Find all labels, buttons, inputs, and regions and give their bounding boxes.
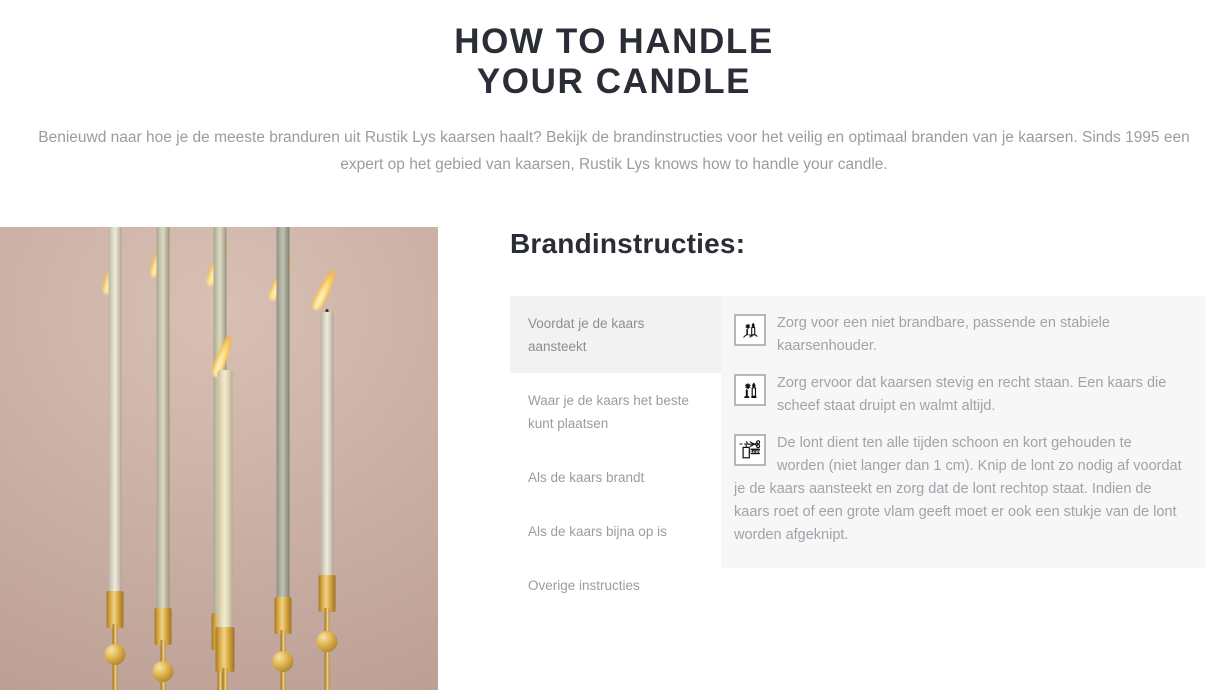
candle-wax	[277, 227, 290, 602]
tab-voordat-je-de-kaars-aansteekt[interactable]: Voordat je de kaars aansteekt	[510, 296, 721, 373]
candle-collar	[107, 591, 124, 628]
candle-4	[195, 270, 255, 690]
instructions-content: Zorg voor een niet brandbare, passende e…	[721, 296, 1205, 568]
tab-als-de-kaars-bijna-op-is[interactable]: Als de kaars bijna op is	[510, 504, 721, 558]
upright-candle-icon	[734, 374, 766, 406]
candle-wax	[157, 227, 170, 612]
instruction-text: De lont dient ten alle tijden schoon en …	[734, 432, 1183, 547]
candle-collar	[216, 627, 235, 672]
candle-photo	[0, 227, 438, 690]
candle-2	[133, 235, 193, 690]
tab-als-de-kaars-brandt[interactable]: Als de kaars brandt	[510, 450, 721, 504]
hero-section: HOW TO HANDLE YOUR CANDLE Benieuwd naar …	[0, 0, 1228, 178]
instruction-text: Zorg voor een niet brandbare, passende e…	[734, 312, 1183, 358]
content-row: Brandinstructies: Voordat je de kaars aa…	[0, 227, 1228, 690]
candle-collar	[275, 597, 292, 634]
candle-wax	[321, 312, 334, 580]
tab-overige-instructies[interactable]: Overige instructies	[510, 558, 721, 612]
candle-holder-icon	[734, 314, 766, 346]
tab-waar-je-de-kaars-het-beste-kunt-plaatsen[interactable]: Waar je de kaars het beste kunt plaatsen	[510, 373, 721, 450]
page-root: HOW TO HANDLE YOUR CANDLE Benieuwd naar …	[0, 0, 1228, 690]
instruction-item: Zorg voor een niet brandbare, passende e…	[734, 312, 1183, 358]
candle-wax	[218, 370, 233, 632]
instruction-tab-list: Voordat je de kaars aansteekt Waar je de…	[510, 296, 721, 568]
holder-ball	[317, 631, 338, 652]
holder-ball	[105, 644, 126, 665]
holder-rod	[223, 668, 228, 690]
instruction-item: Zorg ervoor dat kaarsen stevig en recht …	[734, 372, 1183, 418]
page-title-line-2: YOUR CANDLE	[0, 62, 1228, 102]
page-title: HOW TO HANDLE YOUR CANDLE	[0, 22, 1228, 102]
candle-wax	[109, 227, 122, 595]
page-subtitle: Benieuwd naar hoe je de meeste branduren…	[16, 124, 1212, 178]
svg-text:1cm: 1cm	[750, 449, 760, 455]
candle-6	[297, 235, 357, 690]
flame-icon	[310, 268, 339, 312]
page-title-line-1: HOW TO HANDLE	[0, 22, 1228, 62]
instructions-column: Brandinstructies: Voordat je de kaars aa…	[510, 227, 1228, 690]
instruction-text: Zorg ervoor dat kaarsen stevig en recht …	[734, 372, 1183, 418]
instructions-panel: Voordat je de kaars aansteekt Waar je de…	[510, 296, 1205, 568]
section-title: Brandinstructies:	[510, 227, 1228, 261]
trim-wick-scissors-icon: 1cm	[734, 434, 766, 466]
candle-collar	[319, 575, 336, 612]
holder-ball	[153, 661, 174, 682]
holder-ball	[273, 651, 294, 672]
instruction-item: 1cm De lont dient ten alle tijden schoon…	[734, 432, 1183, 547]
